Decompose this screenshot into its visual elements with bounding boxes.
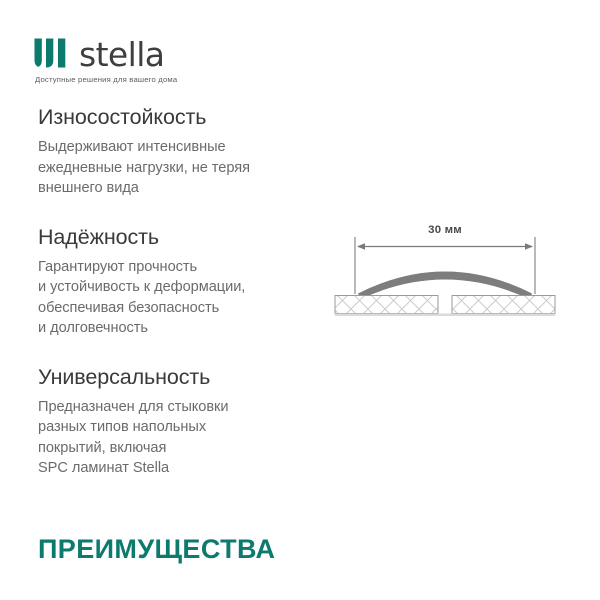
stella-bars-logo-icon [34, 38, 70, 68]
feature-title: Износостойкость [38, 104, 328, 130]
feature-body-line: и долговечность [38, 318, 328, 339]
dimension-arrow-left-icon [357, 243, 365, 249]
feature-body-line: внешнего вида [38, 178, 328, 199]
diagram-svg [334, 224, 556, 316]
feature-body-line: Гарантируют прочность [38, 257, 328, 278]
feature-list: Износостойкость Выдерживают интенсивные … [38, 104, 328, 479]
feature-item: Износостойкость Выдерживают интенсивные … [38, 104, 328, 199]
feature-body: Гарантируют прочность и устойчивость к д… [38, 257, 328, 339]
feature-body-line: Предназначен для стыковки [38, 397, 328, 418]
feature-title: Универсальность [38, 364, 328, 390]
substrate-base-strip [335, 314, 555, 317]
feature-body-line: ежедневные нагрузки, не теряя [38, 158, 328, 179]
dimension-arrow-right-icon [525, 243, 533, 249]
floor-panel-right [452, 296, 555, 314]
brand-wordmark: stella [79, 38, 164, 71]
product-cross-section-diagram: 30 мм [334, 224, 556, 316]
feature-item: Универсальность Предназначен для стыковк… [38, 364, 328, 479]
feature-body-line: покрытий, включая [38, 438, 328, 459]
feature-body-line: обеспечивая безопасность [38, 298, 328, 319]
floor-panel-left [335, 296, 438, 314]
brand-block: stella Доступные решения для вашего дома [34, 36, 334, 85]
feature-body-line: разных типов напольных [38, 417, 328, 438]
feature-title: Надёжность [38, 224, 328, 250]
brand-row: stella [34, 36, 334, 70]
feature-body: Предназначен для стыковки разных типов н… [38, 397, 328, 479]
feature-item: Надёжность Гарантируют прочность и устой… [38, 224, 328, 339]
dimension-label: 30 мм [334, 224, 556, 236]
feature-body-line: SPC ламинат Stella [38, 458, 328, 479]
feature-body-line: Выдерживают интенсивные [38, 137, 328, 158]
feature-body-line: и устойчивость к деформации, [38, 277, 328, 298]
poster-root: stella Доступные решения для вашего дома… [0, 0, 600, 600]
bottom-heading: ПРЕИМУЩЕСТВА [38, 533, 275, 565]
feature-body: Выдерживают интенсивные ежедневные нагру… [38, 137, 328, 199]
profile-arch-shape [358, 272, 532, 299]
brand-tagline: Доступные решения для вашего дома [35, 75, 334, 85]
